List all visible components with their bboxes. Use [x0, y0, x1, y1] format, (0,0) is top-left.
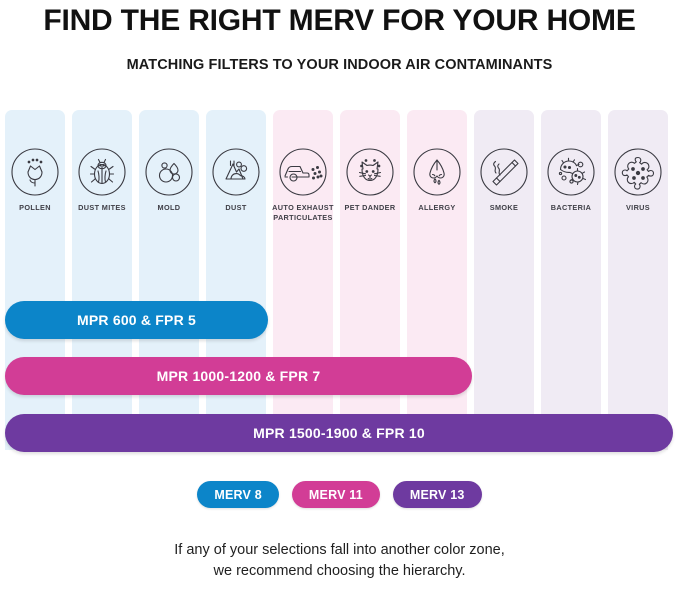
- legend-pill-merv-13[interactable]: MERV 13: [393, 481, 482, 508]
- cat-face-icon: [346, 148, 394, 196]
- dust-mite-bug-icon: [78, 148, 126, 196]
- contaminant-label: PET DANDER: [336, 203, 404, 213]
- contaminant-column-dust: DUST: [206, 110, 266, 450]
- merv-bar-blue[interactable]: MPR 600 & FPR 5: [5, 301, 268, 339]
- footer-line-2: we recommend choosing the hierarchy.: [0, 561, 679, 582]
- merv-bar-purple[interactable]: MPR 1500-1900 & FPR 10: [5, 414, 673, 452]
- contaminant-label: DUST MITES: [68, 203, 136, 213]
- legend-pill-merv-8[interactable]: MERV 8: [197, 481, 279, 508]
- contaminant-column-allergy: ALLERGY: [407, 110, 467, 450]
- contaminant-label: VIRUS: [604, 203, 672, 213]
- contaminant-column-mold: MOLD: [139, 110, 199, 450]
- contaminant-label: POLLEN: [1, 203, 69, 213]
- cigarette-smoke-icon: [480, 148, 528, 196]
- virus-icon: [614, 148, 662, 196]
- mold-spores-icon: [145, 148, 193, 196]
- contaminant-column-dust-mites: DUST MITES: [72, 110, 132, 450]
- contaminant-column-pet-dander: PET DANDER: [340, 110, 400, 450]
- merv-infographic: FIND THE RIGHT MERV FOR YOUR HOME MATCHI…: [0, 0, 679, 589]
- nose-drip-icon: [413, 148, 461, 196]
- contaminant-column-virus: VIRUS: [608, 110, 668, 450]
- contaminant-label: MOLD: [135, 203, 203, 213]
- page-title: FIND THE RIGHT MERV FOR YOUR HOME: [0, 4, 679, 38]
- contaminant-column-smoke: SMOKE: [474, 110, 534, 450]
- car-exhaust-icon: [279, 148, 327, 196]
- contaminant-columns: POLLEN DUST MITES: [0, 110, 679, 450]
- footer-note: If any of your selections fall into anot…: [0, 540, 679, 582]
- header: FIND THE RIGHT MERV FOR YOUR HOME MATCHI…: [0, 0, 679, 73]
- contaminant-label: SMOKE: [470, 203, 538, 213]
- merv-bar-pink[interactable]: MPR 1000-1200 & FPR 7: [5, 357, 472, 395]
- contaminant-label: DUST: [202, 203, 270, 213]
- bacteria-icon: [547, 148, 595, 196]
- contaminant-label: AUTO EXHAUST PARTICULATES: [269, 203, 337, 222]
- dust-pile-icon: [212, 148, 260, 196]
- contaminant-column-auto-exhaust: AUTO EXHAUST PARTICULATES: [273, 110, 333, 450]
- legend-pill-merv-11[interactable]: MERV 11: [292, 481, 380, 508]
- contaminant-column-pollen: POLLEN: [5, 110, 65, 450]
- merv-legend: MERV 8 MERV 11 MERV 13: [0, 481, 679, 508]
- page-subtitle: MATCHING FILTERS TO YOUR INDOOR AIR CONT…: [0, 38, 679, 73]
- pollen-flower-icon: [11, 148, 59, 196]
- contaminant-column-bacteria: BACTERIA: [541, 110, 601, 450]
- contaminant-label: ALLERGY: [403, 203, 471, 213]
- contaminant-label: BACTERIA: [537, 203, 605, 213]
- footer-line-1: If any of your selections fall into anot…: [0, 540, 679, 561]
